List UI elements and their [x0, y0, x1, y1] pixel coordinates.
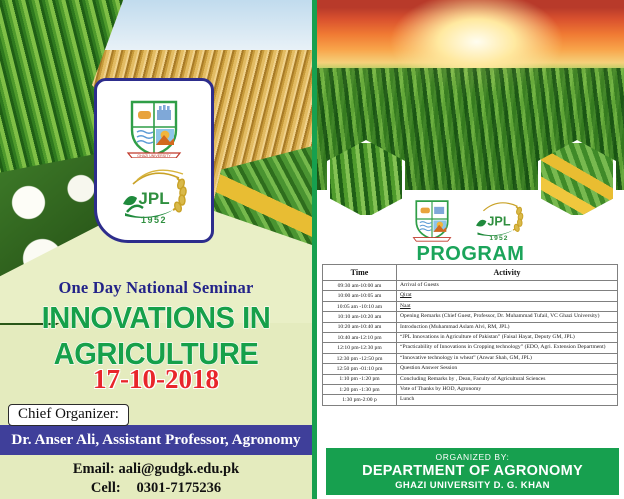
cell-time: 1:20 pm -1:30 pm	[323, 385, 397, 395]
program-table: Time Activity 09:30 am-10:00 amArrival o…	[322, 264, 618, 406]
seminar-subtitle: One Day National Seminar	[0, 278, 312, 298]
svg-text:GHAZI UNIVERSITY: GHAZI UNIVERSITY	[137, 154, 171, 158]
table-row: 10:20 am-10:40 amIntroduction (Muhammad …	[323, 322, 618, 332]
cell-activity: Lunch	[397, 395, 618, 405]
cell-time: 12:50 pm -01:10 pm	[323, 364, 397, 374]
svg-text:1952: 1952	[141, 215, 167, 225]
table-row: 12:30 pm -12:50 pm“Innovative technology…	[323, 353, 618, 363]
cell-activity: “Innovative technology in wheat” (Anwar …	[397, 353, 618, 363]
cell-activity-text: Naat	[400, 303, 411, 309]
table-row: 10:40 am-12:10 pm“JPL Innovations in Agr…	[323, 333, 618, 343]
cell-time: 1:10 pm -1:20 pm	[323, 374, 397, 384]
email-row: Email: aali@gudgk.edu.pk	[0, 460, 312, 479]
table-row: 10:10 am-10:20 amOpening Remarks (Chief …	[323, 312, 618, 322]
cell-activity: Vote of Thanks by HOD, Agronomy	[397, 385, 618, 395]
cell-activity: Opening Remarks (Chief Guest, Professor,…	[397, 312, 618, 322]
table-row: 10:05 am -10:10 amNaat	[323, 301, 618, 311]
table-row: 1:10 pm -1:20 pmConcluding Remarks by , …	[323, 374, 618, 384]
chief-organizer-label: Chief Organizer:	[8, 404, 129, 426]
cell-value[interactable]: 0301-7175236	[137, 480, 222, 496]
cell-activity: Question Answer Session	[397, 364, 618, 374]
right-panel: JPL 1952 PROGRAM Time Activity 09:30 am-…	[312, 0, 624, 499]
cell-activity: “JPL Innovations in Agriculture of Pakis…	[397, 333, 618, 343]
cell-time: 10:00 am-10:05 am	[323, 291, 397, 301]
cell-time: 12:30 pm -12:50 pm	[323, 353, 397, 363]
table-row: 09:30 am-10:00 amArrival of Guests	[323, 281, 618, 291]
cell-time: 1:30 pm-2:00 p	[323, 395, 397, 405]
cell-time: 09:30 am-10:00 am	[323, 281, 397, 291]
jpl-logo-icon: JPL 1952	[468, 196, 530, 242]
cell-time: 10:20 am-10:40 am	[323, 322, 397, 332]
svg-text:JPL: JPL	[138, 189, 169, 208]
jpl-logo-icon: JPL 1952	[113, 164, 195, 226]
page-title: INNOVATIONS IN AGRICULTURE	[9, 300, 302, 372]
program-table-body: 09:30 am-10:00 amArrival of Guests10:00 …	[323, 281, 618, 406]
table-row: 1:20 pm -1:30 pmVote of Thanks by HOD, A…	[323, 385, 618, 395]
cell-activity: Concluding Remarks by , Dean, Faculty of…	[397, 374, 618, 384]
table-row: 12:10 pm-12:30 pm“Practicability of Inno…	[323, 343, 618, 353]
event-date: 17-10-2018	[0, 364, 312, 395]
cell-activity: Arrival of Guests	[397, 281, 618, 291]
cell-time: 10:10 am-10:20 am	[323, 312, 397, 322]
cell-activity: Qirat	[397, 291, 618, 301]
svg-text:1952: 1952	[489, 235, 508, 242]
left-panel: GHAZI UNIVERSITY JPL 1952 One Day N	[0, 0, 312, 499]
cell-label: Cell:	[91, 479, 133, 498]
ghazi-university-crest-icon	[412, 196, 452, 242]
flyer-page: GHAZI UNIVERSITY JPL 1952 One Day N	[0, 0, 624, 499]
contact-block: Email: aali@gudgk.edu.pk Cell: 0301-7175…	[0, 460, 312, 498]
organizing-university: GHAZI UNIVERSITY D. G. KHAN	[395, 480, 550, 491]
cell-activity: “Practicability of Innovations in Croppi…	[397, 343, 618, 353]
organized-by-label: ORGANIZED BY:	[436, 452, 510, 462]
email-value[interactable]: aali@gudgk.edu.pk	[118, 461, 239, 477]
column-header-activity: Activity	[397, 265, 618, 281]
table-row: 10:00 am-10:05 amQirat	[323, 291, 618, 301]
logo-card: GHAZI UNIVERSITY JPL 1952	[94, 78, 214, 243]
ghazi-university-crest-icon: GHAZI UNIVERSITY	[126, 96, 182, 158]
right-logo-row: JPL 1952	[317, 190, 624, 248]
program-table-head: Time Activity	[323, 265, 618, 281]
cell-activity: Naat	[397, 301, 618, 311]
program-heading: PROGRAM	[317, 243, 624, 266]
cell-activity-text: Qirat	[400, 292, 412, 298]
organized-by-bar: ORGANIZED BY: DEPARTMENT OF AGRONOMY GHA…	[326, 448, 619, 495]
cell-activity: Introduction (Muhammad Aslam Alvi, RM, J…	[397, 322, 618, 332]
column-header-time: Time	[323, 265, 397, 281]
organizing-department: DEPARTMENT OF AGRONOMY	[362, 463, 583, 479]
table-header-row: Time Activity	[323, 265, 618, 281]
cell-time: 12:10 pm-12:30 pm	[323, 343, 397, 353]
cell-row: Cell: 0301-7175236	[0, 479, 312, 498]
svg-text:JPL: JPL	[487, 215, 510, 229]
table-row: 12:50 pm -01:10 pmQuestion Answer Sessio…	[323, 364, 618, 374]
chief-organizer-name: Dr. Anser Ali, Assistant Professor, Agro…	[0, 425, 312, 455]
cell-time: 10:40 am-12:10 pm	[323, 333, 397, 343]
email-label: Email:	[73, 460, 115, 479]
cell-time: 10:05 am -10:10 am	[323, 301, 397, 311]
table-row: 1:30 pm-2:00 pLunch	[323, 395, 618, 405]
